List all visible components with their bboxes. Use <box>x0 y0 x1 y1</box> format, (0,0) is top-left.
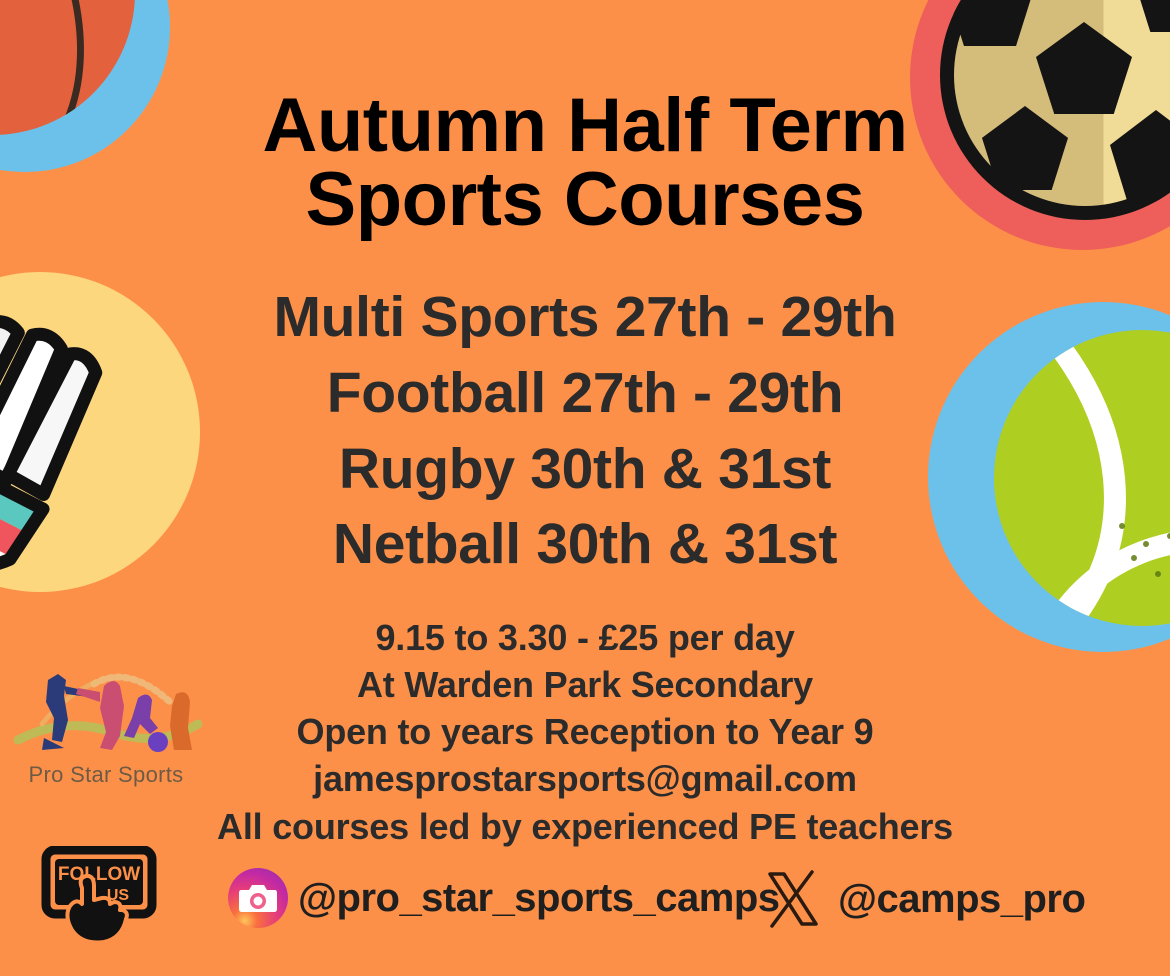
title-line-2: Sports Courses <box>150 163 1020 237</box>
instagram-icon <box>228 868 288 928</box>
x-twitter-icon <box>762 868 824 930</box>
logo-wordmark: Pro Star Sports <box>8 762 204 788</box>
poster-content: Autumn Half Term Sports Courses Multi Sp… <box>0 0 1170 976</box>
follow-us-badge[interactable]: FOLLOW US <box>40 846 162 954</box>
social-row: FOLLOW US @pro_star_sports_camps <box>0 846 1170 962</box>
course-item-multi-sports: Multi Sports 27th - 29th <box>0 280 1170 356</box>
title-line-1: Autumn Half Term <box>150 89 1020 163</box>
course-item-rugby: Rugby 30th & 31st <box>0 432 1170 508</box>
x-twitter-handle: @camps_pro <box>838 877 1085 922</box>
detail-time-price: 9.15 to 3.30 - £25 per day <box>0 614 1170 661</box>
course-list: Multi Sports 27th - 29th Football 27th -… <box>0 280 1170 583</box>
instagram-handle: @pro_star_sports_camps <box>298 876 780 921</box>
instagram-link[interactable]: @pro_star_sports_camps <box>228 868 780 928</box>
svg-text:FOLLOW: FOLLOW <box>58 864 140 885</box>
page-title: Autumn Half Term Sports Courses <box>0 89 1170 236</box>
pro-star-sports-logo: Pro Star Sports <box>8 662 204 790</box>
course-item-football: Football 27th - 29th <box>0 356 1170 432</box>
detail-staff-note: All courses led by experienced PE teache… <box>0 803 1170 850</box>
logo-mark-icon <box>8 662 204 764</box>
course-item-netball: Netball 30th & 31st <box>0 507 1170 583</box>
poster-canvas: Autumn Half Term Sports Courses Multi Sp… <box>0 0 1170 976</box>
x-twitter-link[interactable]: @camps_pro <box>762 868 1085 930</box>
